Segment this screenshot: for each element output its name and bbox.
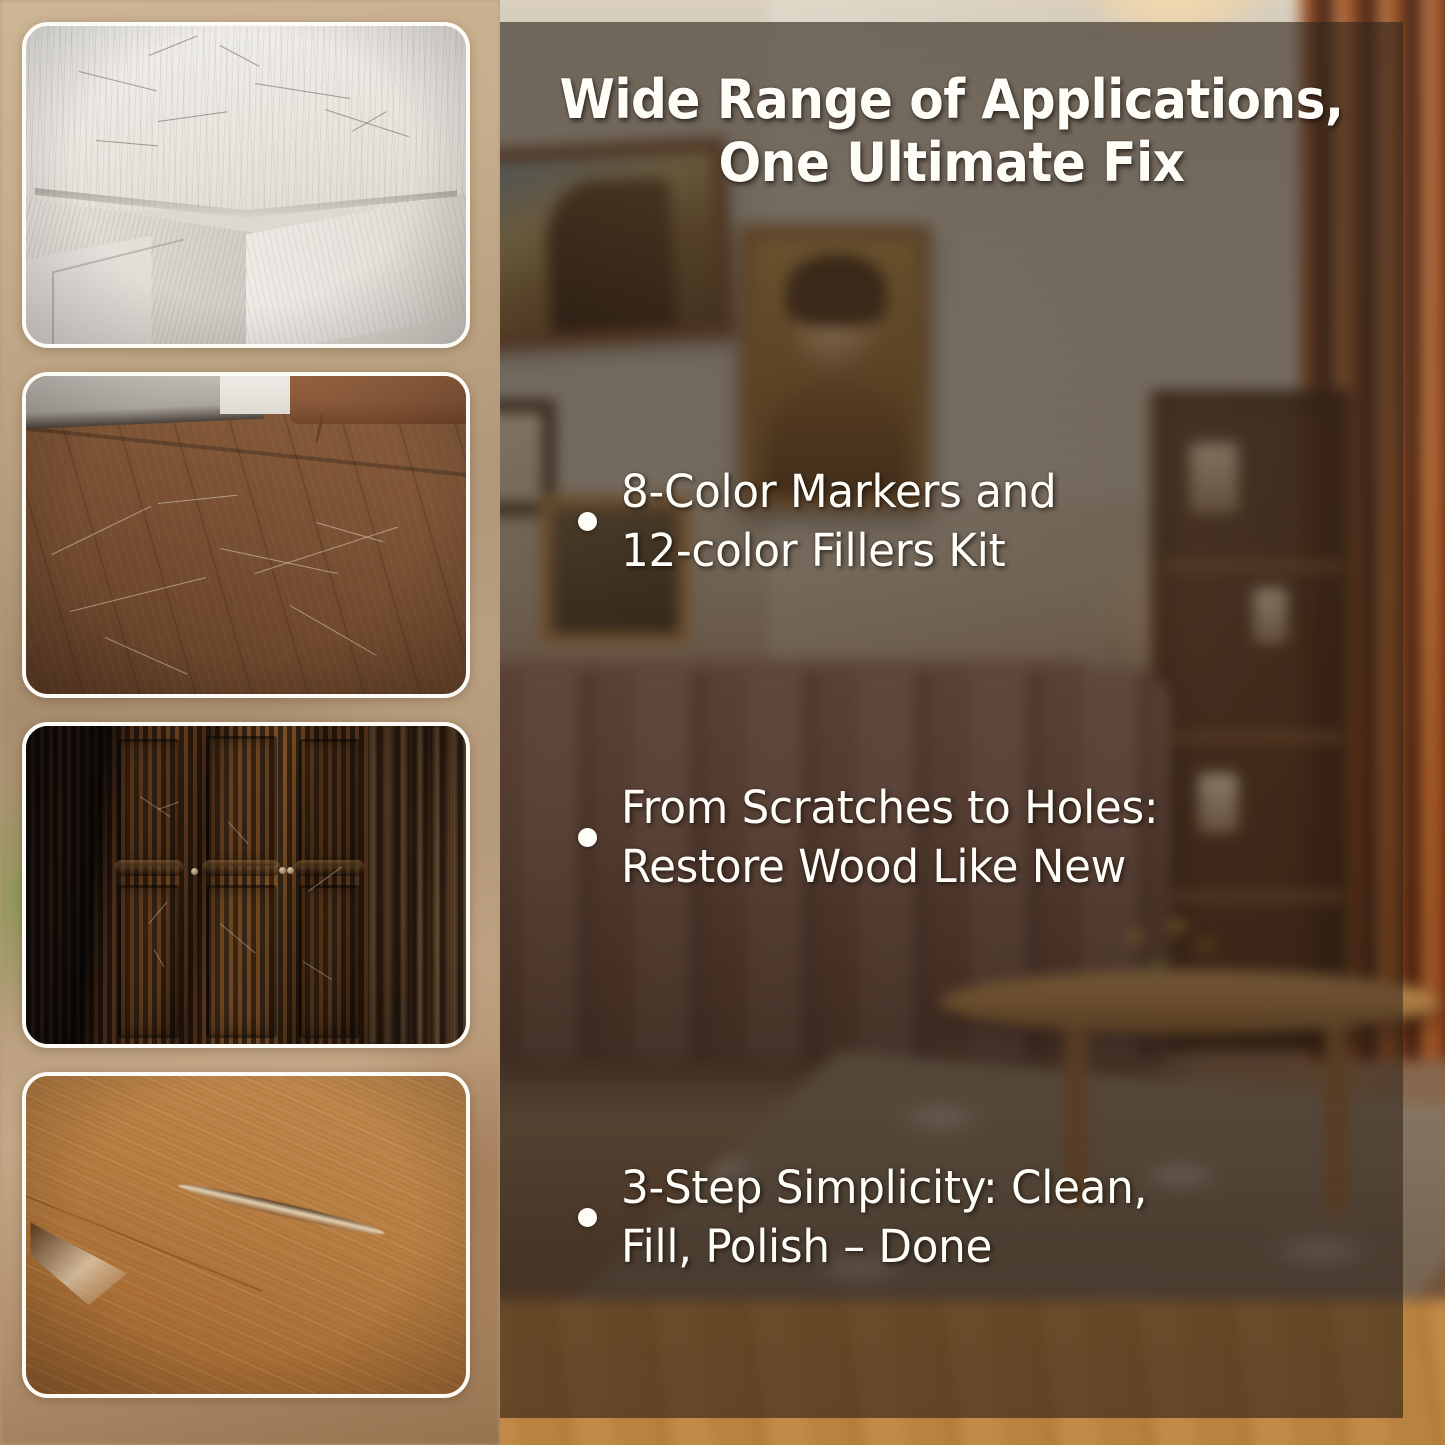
bullet-dot-icon [578, 828, 597, 847]
bullet-dot-icon [578, 512, 597, 531]
list-item: 3-Step Simplicity: Clean, Fill, Polish –… [578, 1159, 1163, 1276]
feature-text-markers-fillers: 8-Color Markers and 12-color Fillers Kit [621, 463, 1056, 580]
thumbnail-4-image [26, 1076, 466, 1394]
feature-text-scratches-to-holes: From Scratches to Holes: Restore Wood Li… [621, 779, 1158, 896]
thumbnail-3-image [26, 726, 466, 1044]
list-item: From Scratches to Holes: Restore Wood Li… [578, 779, 1175, 896]
feature-text-three-step: 3-Step Simplicity: Clean, Fill, Polish –… [621, 1159, 1147, 1276]
thumbnail-1-image [26, 26, 466, 344]
thumbnail-dark-walnut-doors[interactable] [22, 722, 470, 1048]
thumbnail-honey-oak-gouge[interactable] [22, 1072, 470, 1398]
thumbnail-whitewashed-wood-corner[interactable] [22, 22, 470, 348]
marketing-copy: Wide Range of Applications, One Ultimate… [500, 0, 1445, 1445]
product-feature-panel: Wide Range of Applications, One Ultimate… [0, 0, 1445, 1445]
thumbnail-2-image [26, 376, 466, 694]
thumbnail-scratched-laminate-floor[interactable] [22, 372, 470, 698]
list-item: 8-Color Markers and 12-color Fillers Kit [578, 463, 1070, 580]
bullet-dot-icon [578, 1208, 597, 1227]
feature-bullet-list: 8-Color Markers and 12-color Fillers Kit… [500, 0, 1403, 1445]
